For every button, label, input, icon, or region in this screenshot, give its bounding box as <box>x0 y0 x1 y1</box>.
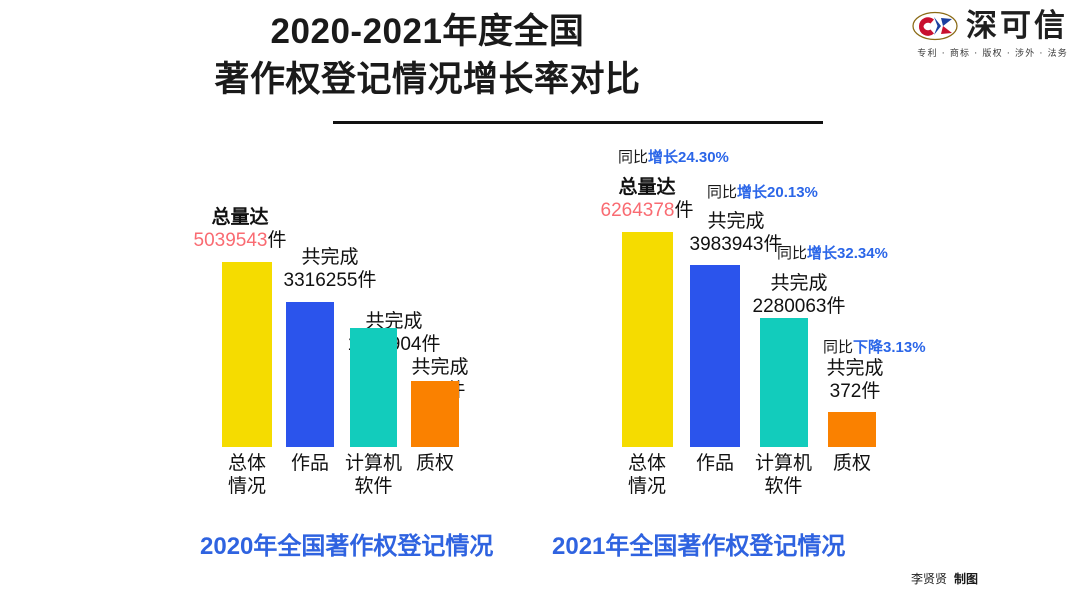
category-label-2021-3: 质权 <box>820 452 884 475</box>
bar-2020-作品 <box>286 302 334 447</box>
value-label-2021-3: 共完成 372件 <box>805 357 905 403</box>
category-label-2021-1: 作品 <box>684 452 746 475</box>
value-label-2021-1: 共完成 3983943件 <box>672 210 800 256</box>
bar-2020-计算机软件 <box>350 328 397 447</box>
growth-label-2021-3: 同比下降3.13% <box>823 339 926 357</box>
growth-label-2021-0: 同比增长24.30% <box>618 149 729 167</box>
bar-2021-总体情况 <box>622 232 673 447</box>
category-label-2020-0: 总体情况 <box>215 452 279 498</box>
value-label-2021-2: 共完成 2280063件 <box>735 272 863 318</box>
chart-credit: 李贤贤制图 <box>911 570 978 587</box>
category-label-2020-1: 作品 <box>279 452 341 475</box>
category-label-2020-3: 质权 <box>403 452 467 475</box>
growth-label-2021-1: 同比增长20.13% <box>707 184 818 202</box>
category-label-2021-2: 计算机软件 <box>749 452 818 498</box>
category-label-2021-0: 总体情况 <box>615 452 679 498</box>
series-caption-2021: 2021年全国著作权登记情况 <box>552 526 845 561</box>
credit-name: 李贤贤 <box>911 572 947 586</box>
infographic-canvas: 2020-2021年度全国 著作权登记情况增长率对比 深可信 专利 · 商标 ·… <box>0 0 1080 608</box>
series-caption-2020: 2020年全国著作权登记情况 <box>200 526 493 561</box>
bar-2020-总体情况 <box>222 262 272 447</box>
bar-2020-质权 <box>411 381 459 447</box>
bar-2021-计算机软件 <box>760 318 808 447</box>
category-label-2020-2: 计算机软件 <box>339 452 408 498</box>
value-label-2020-1: 共完成 3316255件 <box>266 246 394 292</box>
credit-role: 制图 <box>954 572 978 586</box>
chart-plot-area: 总量达 5039543件 共完成 3316255件 共完成 1722904件 共… <box>0 0 1080 608</box>
bar-2021-质权 <box>828 412 876 447</box>
bar-2021-作品 <box>690 265 740 447</box>
